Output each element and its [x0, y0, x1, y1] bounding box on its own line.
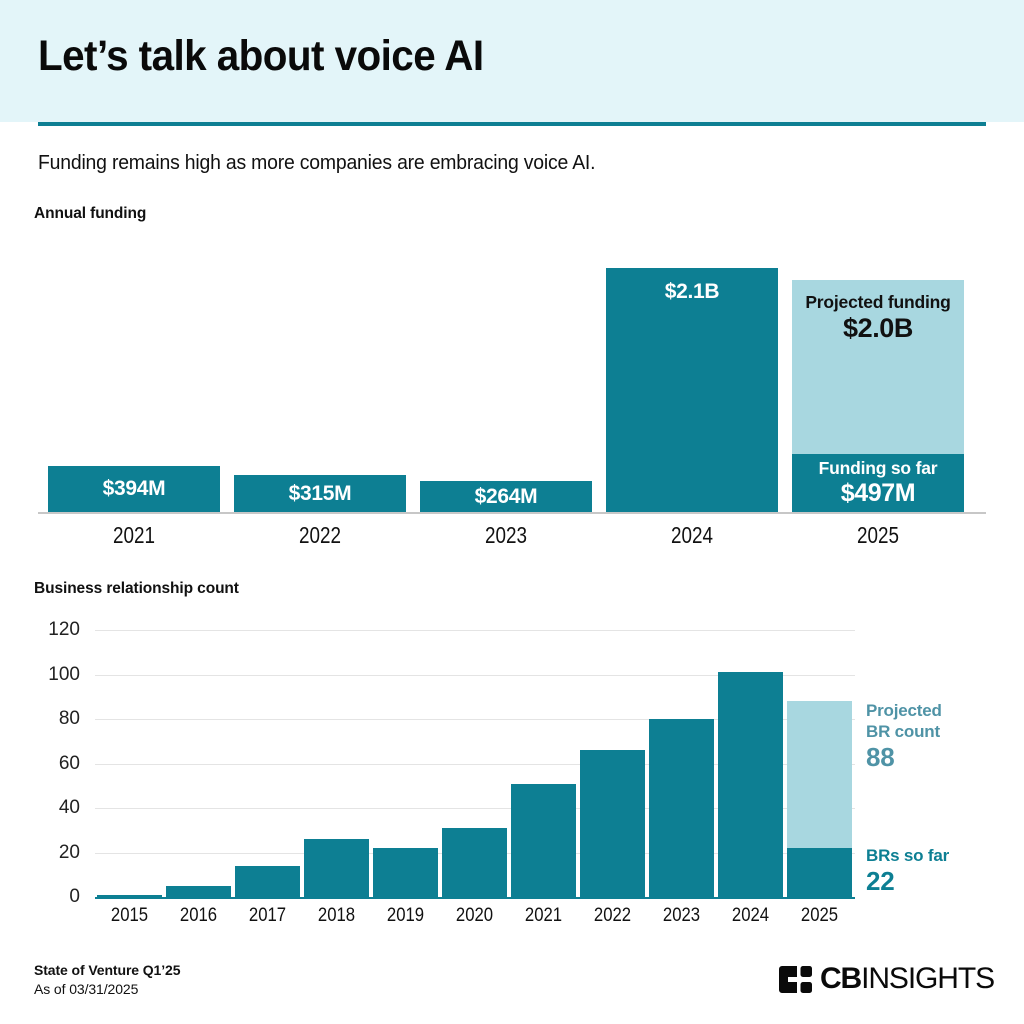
funding-bar-value-2024: $2.1B [606, 280, 778, 304]
br-xtick-2015: 2015 [101, 905, 158, 927]
funding-sofar-value: $497M [792, 479, 964, 508]
br-bar-actual-2025[interactable] [787, 848, 852, 897]
br-ytick-0: 0 [34, 886, 80, 908]
br-plot-area [95, 630, 855, 897]
br-projected-label-line2: BR count [866, 721, 942, 742]
br-bar-projected-2025[interactable] [787, 701, 852, 848]
annual-funding-chart: $394M $315M $264M $2.1B Projected fundin… [0, 230, 1024, 560]
br-y-axis: 120 100 80 60 40 20 0 [28, 630, 80, 897]
funding-bar-2022[interactable]: $315M [234, 475, 406, 512]
br-bar-2020[interactable] [442, 828, 507, 897]
funding-projected-caption: Projected funding [792, 292, 964, 313]
funding-sofar-caption: Funding so far [792, 458, 964, 479]
br-projected-annotation: Projected BR count 88 [866, 700, 942, 772]
br-xtick-2018: 2018 [308, 905, 365, 927]
br-ytick-40: 40 [34, 797, 80, 819]
logo-cb: CB [820, 962, 861, 995]
br-xtick-2016: 2016 [170, 905, 227, 927]
br-ytick-20: 20 [34, 842, 80, 864]
funding-bar-group-2022: $315M [234, 475, 406, 512]
funding-plot-area: $394M $315M $264M $2.1B Projected fundin… [38, 230, 986, 512]
br-xtick-2021: 2021 [515, 905, 572, 927]
br-bar-2017[interactable] [235, 866, 300, 897]
br-ytick-120: 120 [34, 619, 80, 641]
br-bar-2016[interactable] [166, 886, 231, 897]
funding-xtick-2022: 2022 [249, 522, 390, 549]
br-xtick-2017: 2017 [239, 905, 296, 927]
subtitle: Funding remains high as more companies a… [38, 152, 595, 175]
footer-date: As of 03/31/2025 [34, 981, 138, 997]
funding-bar-group-2021: $394M [48, 466, 220, 512]
br-bar-2024[interactable] [718, 672, 783, 897]
br-xtick-2025: 2025 [791, 905, 848, 927]
br-actual-label: BRs so far [866, 845, 949, 866]
br-bar-2022[interactable] [580, 750, 645, 897]
footer-source: State of Venture Q1’25 [34, 962, 180, 978]
br-bar-2018[interactable] [304, 839, 369, 897]
logo-insights: INSIGHTS [861, 962, 994, 995]
funding-bar-value-2023: $264M [420, 485, 592, 509]
br-projected-value: 88 [866, 742, 942, 772]
funding-chart-label: Annual funding [34, 205, 146, 223]
funding-xtick-2021: 2021 [63, 522, 204, 549]
funding-xtick-2025: 2025 [807, 522, 948, 549]
br-xtick-2019: 2019 [377, 905, 434, 927]
funding-bar-group-2024: $2.1B [606, 268, 778, 512]
funding-projected-value: $2.0B [792, 313, 964, 344]
br-xtick-2020: 2020 [446, 905, 503, 927]
funding-bar-actual-2025[interactable]: Funding so far $497M [792, 454, 964, 512]
funding-axis-line [38, 512, 986, 514]
br-bar-2023[interactable] [649, 719, 714, 897]
funding-bar-group-2023: $264M [420, 481, 592, 512]
br-ytick-100: 100 [34, 664, 80, 686]
br-xtick-2024: 2024 [722, 905, 779, 927]
br-xtick-2022: 2022 [584, 905, 641, 927]
br-bar-2021[interactable] [511, 784, 576, 898]
funding-bar-value-2021: $394M [48, 477, 220, 501]
br-actual-annotation: BRs so far 22 [866, 845, 949, 896]
br-bar-2019[interactable] [373, 848, 438, 897]
page-title: Let’s talk about voice AI [38, 32, 484, 81]
funding-xtick-2024: 2024 [621, 522, 762, 549]
funding-bar-projected-2025[interactable]: Projected funding $2.0B [792, 280, 964, 454]
br-ytick-80: 80 [34, 708, 80, 730]
funding-bar-2024[interactable]: $2.1B [606, 268, 778, 512]
funding-xtick-2023: 2023 [435, 522, 576, 549]
cb-insights-logo-icon [779, 966, 812, 993]
br-ytick-60: 60 [34, 753, 80, 775]
br-xtick-2023: 2023 [653, 905, 710, 927]
header-divider [38, 122, 986, 126]
cb-insights-logo: CBINSIGHTS [779, 962, 994, 996]
business-relationship-chart: 120 100 80 60 40 20 0 2015 2016 2017 201… [0, 605, 1024, 935]
br-axis-line [95, 897, 855, 899]
gridline-120 [95, 630, 855, 631]
funding-bar-group-2025: Projected funding $2.0B Funding so far $… [792, 280, 964, 512]
cb-insights-logo-text: CBINSIGHTS [820, 962, 994, 996]
br-actual-value: 22 [866, 866, 949, 896]
funding-bar-2021[interactable]: $394M [48, 466, 220, 512]
funding-bar-2023[interactable]: $264M [420, 481, 592, 512]
br-projected-label-line1: Projected [866, 700, 942, 721]
br-chart-label: Business relationship count [34, 580, 239, 598]
funding-bar-value-2022: $315M [234, 482, 406, 506]
